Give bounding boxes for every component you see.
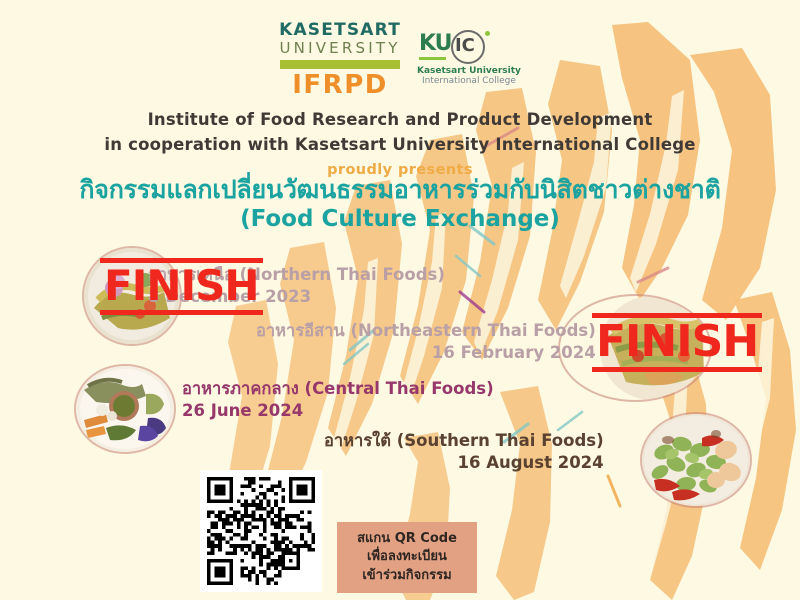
ifrpd-acronym-text: IFRPD: [279, 72, 401, 98]
kuic-mark-icon: KU IC: [417, 30, 509, 64]
ifrpd-green-bar: [280, 60, 400, 69]
kuic-ic-text: IC: [455, 37, 475, 55]
header-line-1: Institute of Food Research and Product D…: [0, 108, 800, 133]
qr-caption-line-2: เพื่อลงทะเบียน: [343, 548, 471, 566]
header-line-2: in cooperation with Kasetsart University…: [0, 133, 800, 158]
qr-caption-line-3: เข้าร่วมกิจกรรม: [343, 567, 471, 585]
title-english: (Food Culture Exchange): [0, 205, 800, 235]
kuic-college-text: International College: [417, 77, 521, 86]
central-thai-food-photo: [76, 366, 174, 452]
logo-row: KASETSART UNIVERSITY IFRPD KU IC Kasetsa…: [0, 22, 800, 98]
finish-stamp-northeastern: FINISH: [592, 313, 762, 372]
qr-caption: สแกน QR Code เพื่อลงทะเบียน เข้าร่วมกิจก…: [337, 522, 477, 593]
schedule-date-southern: 16 August 2024: [324, 452, 604, 474]
schedule-date-northeastern: 16 February 2024: [256, 342, 596, 364]
ifrpd-kasetsart-text: KASETSART: [279, 22, 401, 39]
kuic-university-text: Kasetsart University: [417, 67, 521, 76]
poster-canvas: KASETSART UNIVERSITY IFRPD KU IC Kasetsa…: [0, 0, 800, 600]
ifrpd-university-text: UNIVERSITY: [279, 41, 401, 56]
schedule-entry-central: อาหารภาคกลาง (Central Thai Foods) 26 Jun…: [182, 378, 494, 422]
page-title: กิจกรรมแลกเปลี่ยนวัฒนธรรมอาหารร่วมกับนิส…: [0, 174, 800, 235]
schedule-entry-northeastern: อาหารอีสาน (Northeastern Thai Foods) 16 …: [256, 320, 596, 364]
header-block: Institute of Food Research and Product D…: [0, 108, 800, 178]
kuic-logo: KU IC Kasetsart University International…: [417, 22, 521, 86]
kuic-ku-text: KU: [419, 33, 452, 55]
ifrpd-logo: KASETSART UNIVERSITY IFRPD: [279, 22, 401, 98]
kuic-green-dot-icon: [485, 31, 490, 36]
qr-caption-line-1: สแกน QR Code: [343, 530, 471, 548]
finish-stamp-northern: FINISH: [100, 258, 263, 315]
southern-thai-food-photo: [642, 414, 750, 506]
schedule-entry-southern: อาหารใต้ (Southern Thai Foods) 16 August…: [324, 430, 604, 474]
qr-code-block[interactable]: [200, 470, 322, 592]
schedule-name-southern: อาหารใต้ (Southern Thai Foods): [324, 430, 604, 452]
title-thai: กิจกรรมแลกเปลี่ยนวัฒนธรรมอาหารร่วมกับนิส…: [0, 174, 800, 205]
schedule-name-northeastern: อาหารอีสาน (Northeastern Thai Foods): [256, 320, 596, 342]
schedule-name-central: อาหารภาคกลาง (Central Thai Foods): [182, 378, 494, 400]
kuic-green-underline: [419, 57, 446, 60]
schedule-date-central: 26 June 2024: [182, 400, 494, 422]
qr-code-icon[interactable]: [207, 477, 315, 585]
